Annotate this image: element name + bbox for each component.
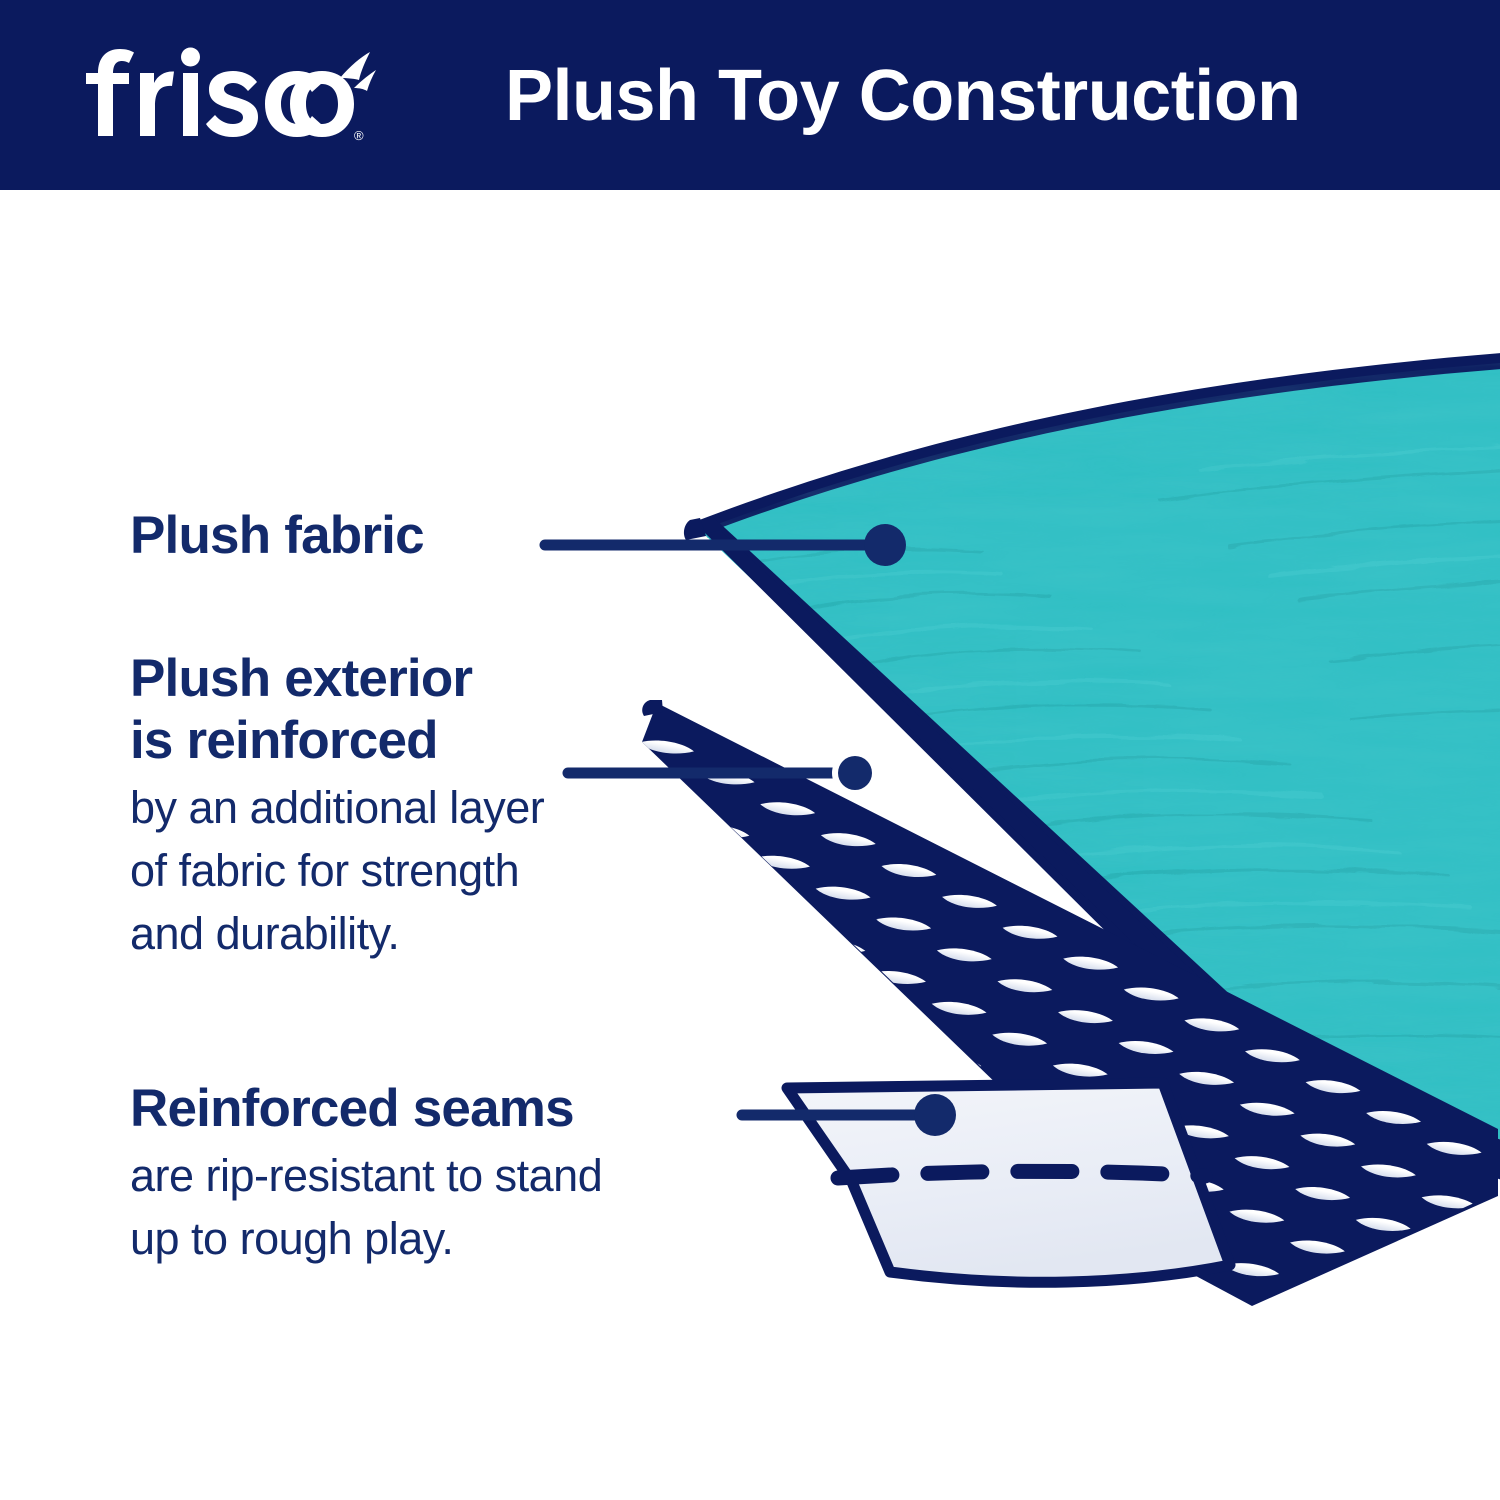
frisco-logo: ® — [82, 44, 382, 144]
callout-heading: Plush exterior is reinforced — [130, 648, 730, 772]
registered-mark: ® — [354, 128, 364, 143]
page-title: Plush Toy Construction — [505, 44, 1425, 148]
callout-reinforced-seams: Reinforced seams are rip-resistant to st… — [130, 1078, 790, 1270]
stitch-dashed-line — [838, 1171, 1205, 1178]
callout-heading: Reinforced seams — [130, 1078, 790, 1140]
callout-plush-exterior: Plush exterior is reinforced by an addit… — [130, 648, 730, 965]
infographic-page: ® Plush Toy Construction — [0, 0, 1500, 1500]
callout-heading: Plush fabric — [130, 505, 560, 567]
header-band: ® Plush Toy Construction — [0, 0, 1500, 190]
callout-plush-fabric: Plush fabric — [130, 505, 560, 567]
callout-body: by an additional layer of fabric for str… — [130, 776, 730, 965]
callout-body: are rip-resistant to stand up to rough p… — [130, 1144, 790, 1270]
